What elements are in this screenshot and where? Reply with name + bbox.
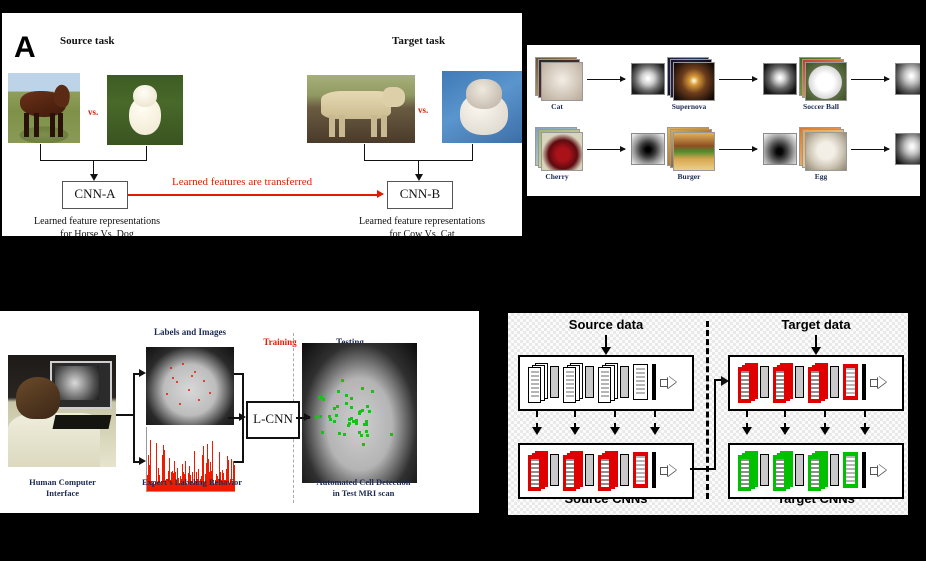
bracket-left-vertical-1	[40, 144, 41, 160]
conv-block-stack	[738, 451, 756, 489]
conv-block-stack	[563, 451, 581, 489]
conv-block-stack	[773, 451, 791, 489]
arrow-to-mri-icon	[139, 369, 146, 377]
conv-block-stack	[738, 363, 756, 401]
output-layer-bar	[862, 364, 866, 400]
target-transfer-tip-2	[780, 427, 790, 435]
target-transfer-tip-4	[860, 427, 870, 435]
arrow-burger-to-feature	[719, 149, 757, 150]
output-arrow-icon	[870, 376, 886, 388]
caption-source-line1: Learned feature representations	[12, 215, 182, 228]
target-data-arrow-head-icon	[811, 347, 821, 355]
cow-photo	[307, 75, 415, 143]
dog-photo	[107, 75, 183, 145]
source-transfer-tip-2	[570, 427, 580, 435]
conv-block-stack	[528, 363, 546, 401]
arrow-down-cnn-b-icon	[415, 174, 423, 181]
target-task-title: Target task	[392, 35, 445, 47]
caption-source-representations: Learned feature representations for Hors…	[12, 215, 182, 236]
arrow-cherry-to-feature	[587, 149, 625, 150]
pool-layer	[550, 366, 559, 398]
target-bottom-layers	[738, 451, 886, 489]
bracket-left-vertical-2	[146, 146, 147, 160]
conv-block-stack	[808, 451, 826, 489]
transfer-arrow-line	[128, 194, 378, 196]
panel-a-transfer-learning-overview: A Source task Target task vs. vs. CNN-A …	[2, 13, 522, 236]
output-arrow-icon	[660, 376, 676, 388]
caption-result-line2: in Test MRI scan	[296, 488, 431, 499]
hci-split-vertical	[133, 373, 135, 463]
panel-letter-a: A	[14, 31, 36, 65]
monitor-screen-shape	[55, 366, 99, 400]
panel-d-cnn-transfer-architecture: Source data Target data Source CNNs Targ…	[508, 313, 908, 515]
output-layer-bar	[862, 452, 866, 488]
human-head-shape	[16, 377, 60, 419]
pool-layer	[585, 454, 594, 486]
output-layer-bar	[652, 364, 656, 400]
feature-label-soccerball: Soccer Ball	[781, 102, 861, 111]
target-transfer-tip-1	[742, 427, 752, 435]
arrow-soccerball-to-feature	[851, 79, 889, 80]
burger-feature-map	[763, 133, 797, 165]
cherry-image-stack	[535, 127, 581, 169]
bracket-right-vertical-1	[364, 144, 365, 160]
pool-layer	[585, 366, 594, 398]
source-cnn-top-box	[518, 355, 694, 411]
output-layer-bar	[652, 452, 656, 488]
feature-label-cherry: Cherry	[527, 172, 597, 181]
vs-label-target: vs.	[418, 105, 428, 115]
pool-layer	[795, 454, 804, 486]
keyboard-shape	[53, 415, 112, 429]
bracket-right-vertical-2	[472, 144, 473, 160]
source-target-divider	[706, 321, 709, 499]
conv-block-stack	[563, 363, 581, 401]
horse-legs-shape	[22, 113, 64, 139]
source-data-arrow-head-icon	[601, 347, 611, 355]
arrow-supernova-to-feature	[719, 79, 757, 80]
feature-label-supernova: Supernova	[649, 102, 729, 111]
arrow-into-lcnn-icon	[239, 413, 246, 421]
target-transfer-tip-3	[820, 427, 830, 435]
arrow-to-plot-icon	[139, 457, 146, 465]
caption-expert-labeling: Expert's Labeling Behavior	[122, 477, 262, 488]
pool-layer	[830, 454, 839, 486]
labeled-mri-image	[146, 347, 234, 425]
pool-layer	[620, 454, 629, 486]
hci-out-line	[116, 414, 134, 416]
panel-b-feature-maps: Cat Supernova Soccer Ball Cherry	[527, 45, 920, 196]
soccerball-image-stack	[799, 57, 845, 99]
output-arrow-icon	[870, 464, 886, 476]
fc-block	[633, 364, 648, 400]
pool-layer	[830, 366, 839, 398]
test-mri-detection-image	[302, 343, 417, 483]
supernova-image-stack	[667, 57, 713, 99]
pool-layer	[550, 454, 559, 486]
pool-layer	[760, 454, 769, 486]
output-arrow-icon	[660, 464, 676, 476]
labels-and-images-title: Labels and Images	[130, 327, 250, 337]
caption-target-line1: Learned feature representations	[337, 215, 507, 228]
arrow-cat-to-feature	[587, 79, 625, 80]
caption-result-line1: Automated Cell Detection	[296, 477, 431, 488]
feature-label-burger: Burger	[649, 172, 729, 181]
conv-block-stack	[528, 451, 546, 489]
transfer-arrow-head-icon	[377, 190, 384, 198]
pool-layer	[620, 366, 629, 398]
caption-source-line2: for Horse Vs. Dog	[12, 228, 182, 236]
transfer-label: Learned features are transferred	[172, 176, 312, 188]
source-top-layers	[528, 363, 676, 401]
arrow-lcnn-to-result-icon	[304, 413, 311, 421]
source-cnn-bottom-box	[518, 443, 694, 499]
pool-layer	[795, 366, 804, 398]
caption-human-line2: Interface	[10, 488, 115, 499]
soccerball-feature-map	[895, 63, 920, 95]
source-transfer-tip-3	[610, 427, 620, 435]
source-data-label: Source data	[526, 317, 686, 332]
arrow-egg-to-feature	[851, 149, 889, 150]
cow-legs-shape	[327, 115, 389, 139]
cat-image-stack	[535, 57, 581, 99]
panel-c-lcnn-pipeline: Labels and Images Training Testing L-CNN…	[0, 311, 479, 513]
cross-transfer-vertical	[714, 379, 716, 470]
caption-human-interface: Human Computer Interface	[10, 477, 115, 499]
arrow-down-cnn-a-icon	[90, 174, 98, 181]
egg-image-stack	[799, 127, 845, 169]
horse-photo	[8, 73, 80, 143]
source-task-title: Source task	[60, 35, 115, 47]
burger-image-stack	[667, 127, 713, 169]
fc-block	[843, 364, 858, 400]
pool-layer	[760, 366, 769, 398]
target-cnn-bottom-box	[728, 443, 904, 499]
target-top-layers	[738, 363, 886, 401]
fc-block	[633, 452, 648, 488]
cat-photo	[442, 71, 522, 143]
cat-feature-map	[631, 63, 665, 95]
target-data-label: Target data	[736, 317, 896, 332]
bracket-right-stem	[418, 160, 419, 175]
caption-target-representations: Learned feature representations for Cow …	[337, 215, 507, 236]
conv-block-stack	[773, 363, 791, 401]
feature-label-egg: Egg	[781, 172, 861, 181]
conv-block-stack	[808, 363, 826, 401]
target-cnn-top-box	[728, 355, 904, 411]
vs-label-source: vs.	[88, 107, 98, 117]
caption-automated-detection: Automated Cell Detection in Test MRI sca…	[296, 477, 431, 499]
cat-face-shape	[472, 87, 498, 103]
lcnn-box: L-CNN	[246, 401, 300, 439]
caption-human-line1: Human Computer	[10, 477, 115, 488]
egg-feature-map	[895, 133, 920, 165]
human-computer-interface-photo	[8, 355, 116, 467]
cross-transfer-horizontal-1	[690, 468, 716, 470]
cnn-a-box: CNN-A	[62, 181, 128, 209]
dog-face-shape	[138, 92, 153, 96]
caption-target-line2: for Cow Vs. Cat	[337, 228, 507, 236]
cherry-feature-map	[631, 133, 665, 165]
bracket-left-stem	[93, 160, 94, 175]
source-transfer-tip-1	[532, 427, 542, 435]
conv-block-stack	[598, 363, 616, 401]
source-transfer-tip-4	[650, 427, 660, 435]
supernova-feature-map	[763, 63, 797, 95]
cross-transfer-arrow-head-icon	[721, 376, 729, 386]
cnn-b-box: CNN-B	[387, 181, 453, 209]
fc-block	[843, 452, 858, 488]
conv-block-stack	[598, 451, 616, 489]
source-bottom-layers	[528, 451, 676, 489]
feature-label-cat: Cat	[527, 102, 597, 111]
